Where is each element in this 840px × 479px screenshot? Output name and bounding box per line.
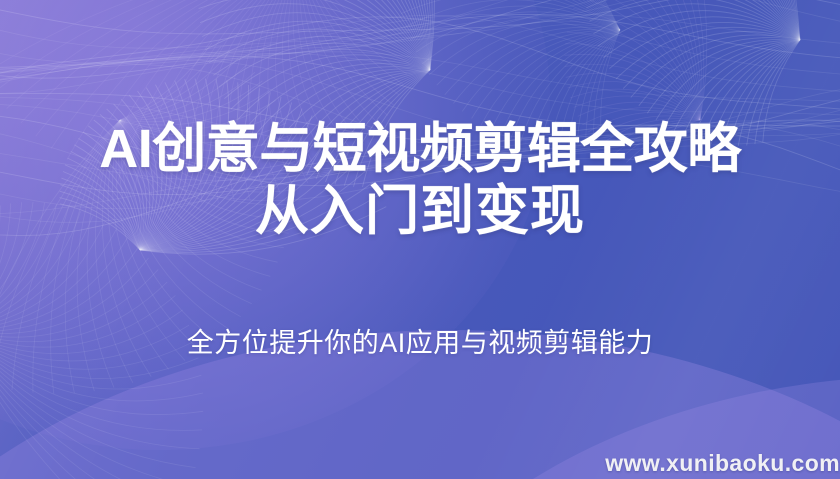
- banner-title-line-2: 从入门到变现: [0, 180, 840, 242]
- banner-subtitle: 全方位提升你的AI应用与视频剪辑能力: [0, 326, 840, 360]
- title-block: AI创意与短视频剪辑全攻略 从入门到变现: [0, 118, 840, 242]
- banner-content: AI创意与短视频剪辑全攻略 从入门到变现 全方位提升你的AI应用与视频剪辑能力 …: [0, 0, 840, 479]
- site-watermark: www.xunibaoku.com: [605, 450, 840, 477]
- course-promo-banner: AI创意与短视频剪辑全攻略 从入门到变现 全方位提升你的AI应用与视频剪辑能力 …: [0, 0, 840, 479]
- banner-title-line-1: AI创意与短视频剪辑全攻略: [0, 118, 840, 180]
